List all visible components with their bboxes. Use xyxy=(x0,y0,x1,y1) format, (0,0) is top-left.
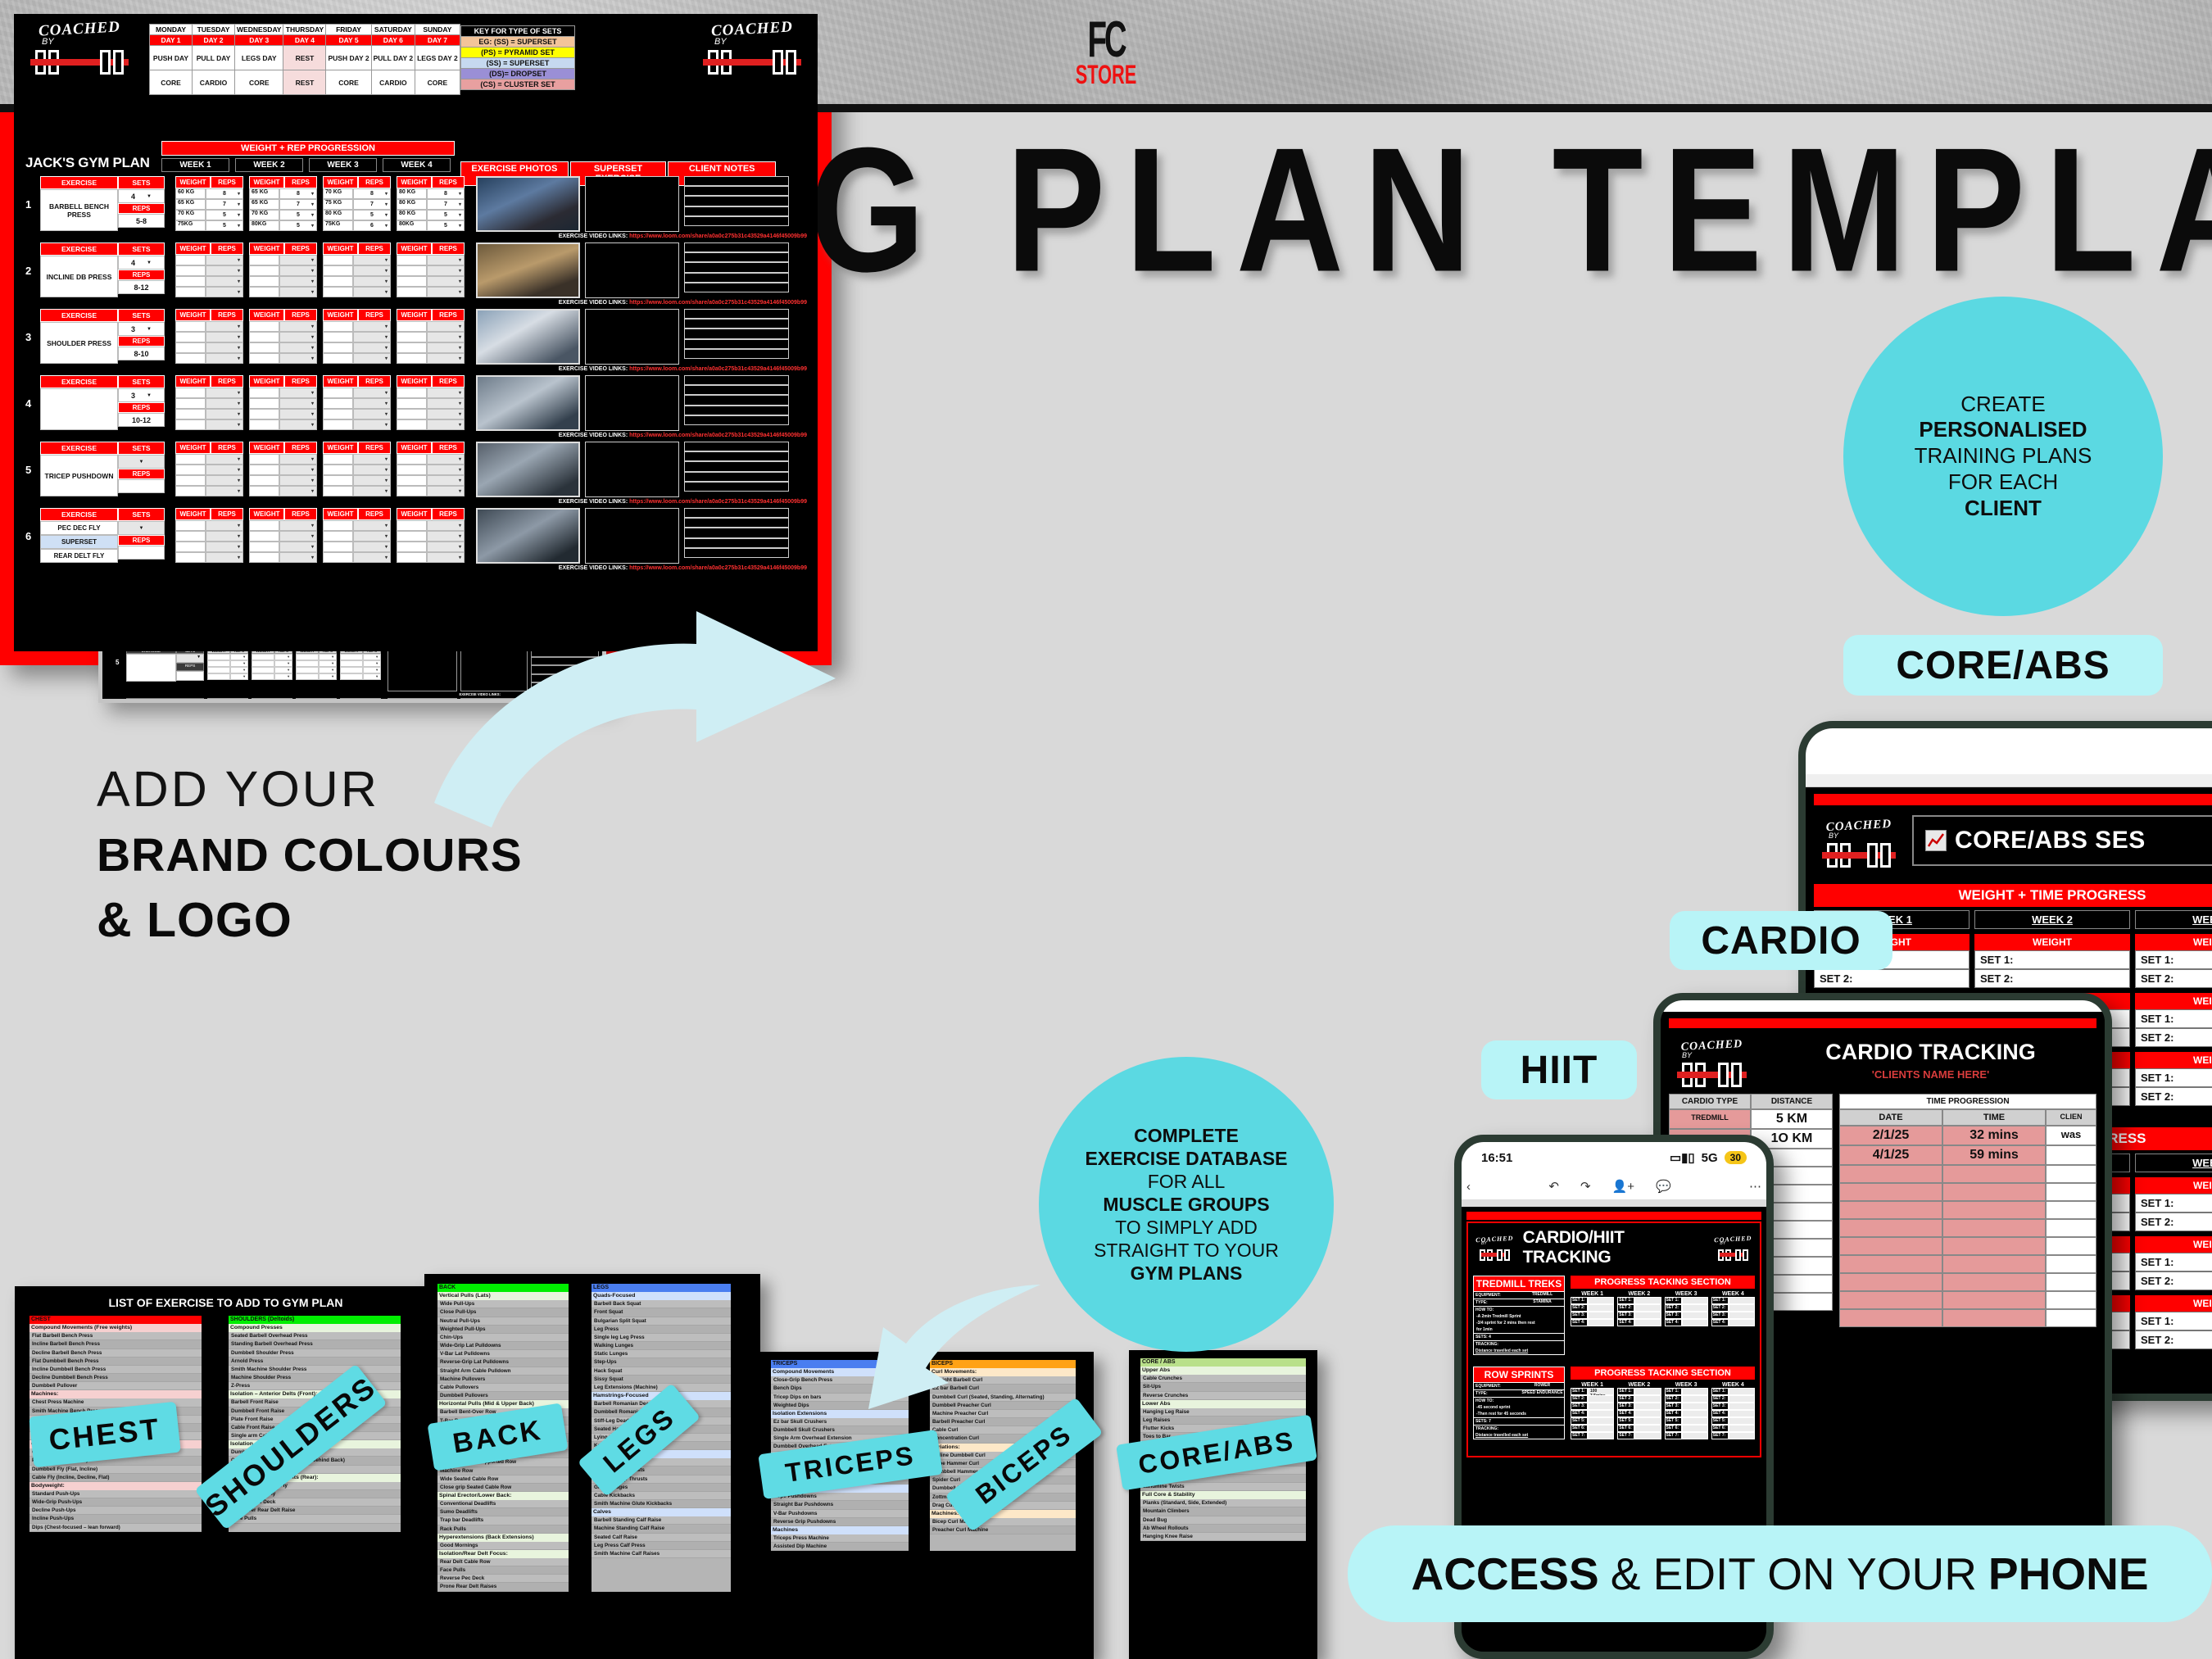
list-item[interactable]: Reverse-Grip Lat Pulldowns xyxy=(437,1358,569,1367)
list-item[interactable]: Incline Push-Ups xyxy=(29,1515,202,1523)
list-item[interactable]: Dumbbell Pullovers xyxy=(437,1392,569,1400)
list-item[interactable]: Bulgarian Split Squat xyxy=(592,1317,731,1326)
exercise-photo[interactable] xyxy=(476,176,580,232)
weight-cell[interactable] xyxy=(249,552,279,563)
weight-cell[interactable]: 70 KG xyxy=(249,210,279,220)
reps-cell[interactable]: 5 xyxy=(206,220,243,231)
weight-cell[interactable] xyxy=(397,542,427,552)
weight-cell[interactable] xyxy=(397,398,427,409)
undo-icon[interactable]: ↶ xyxy=(1548,1179,1559,1194)
reps-cell[interactable] xyxy=(206,342,243,353)
weight-cell[interactable] xyxy=(323,398,353,409)
list-item[interactable]: Wide-Grip Push-Ups xyxy=(29,1498,202,1507)
set-value[interactable] xyxy=(1588,1425,1614,1432)
m-extra-cell[interactable]: REST xyxy=(283,70,326,95)
weight-cell[interactable] xyxy=(249,287,279,297)
reps-cell[interactable] xyxy=(206,353,243,364)
m-days-cell[interactable]: WEDNESDAY xyxy=(235,25,283,35)
reps-cell[interactable]: 5 xyxy=(279,210,317,220)
client-notes-cell[interactable] xyxy=(684,375,789,431)
weight-cell[interactable] xyxy=(175,486,206,496)
weight-cell[interactable] xyxy=(323,353,353,364)
weekly-schedule-table[interactable]: MONDAYTUESDAYWEDNESDAYTHURSDAYFRIDAYSATU… xyxy=(149,24,460,95)
list-item[interactable]: Straight Bar Pushdowns xyxy=(771,1501,909,1509)
reps-cell[interactable]: 5 xyxy=(353,210,391,220)
weight-cell[interactable] xyxy=(249,475,279,486)
reps-cell[interactable] xyxy=(279,454,317,465)
date-cell[interactable]: 4/1/25 xyxy=(1839,1145,1942,1165)
reps-cell[interactable] xyxy=(353,520,391,531)
reps-cell[interactable] xyxy=(353,353,391,364)
list-item[interactable]: Rear Delt Cable Row xyxy=(437,1558,569,1566)
weight-cell[interactable]: 80KG xyxy=(249,220,279,231)
superset-exercise-cell[interactable] xyxy=(585,442,679,497)
reps-cell[interactable] xyxy=(353,542,391,552)
weight-cell[interactable] xyxy=(249,255,279,265)
exercise-photo[interactable] xyxy=(476,309,580,365)
list-item[interactable]: Smith Machine Glute Kickbacks xyxy=(592,1500,731,1508)
exercise-video-link[interactable]: EXERCISE VIDEO LINKS: https://www.loom.c… xyxy=(25,433,812,438)
reps-cell[interactable] xyxy=(427,265,465,276)
reps-cell[interactable] xyxy=(353,454,391,465)
m-sess-cell[interactable]: PULL DAY 2 xyxy=(371,46,415,70)
list-item[interactable]: Close grip Seated Cable Row xyxy=(437,1484,569,1492)
reps-cell[interactable] xyxy=(206,287,243,297)
m-daynums-cell[interactable]: DAY 7 xyxy=(415,35,460,46)
weight-cell[interactable] xyxy=(249,265,279,276)
week-block[interactable]: WEIGHTREPS xyxy=(249,508,317,564)
set-value[interactable] xyxy=(1588,1304,1614,1312)
reps-cell[interactable] xyxy=(427,465,465,475)
list-item[interactable]: V-Bar Pushdowns xyxy=(771,1510,909,1518)
reps-cell[interactable] xyxy=(427,255,465,265)
set-value[interactable] xyxy=(1634,1304,1661,1312)
reps-cell[interactable] xyxy=(279,409,317,419)
weight-cell[interactable] xyxy=(175,419,206,430)
set-row-tablet[interactable]: SET 1: xyxy=(2135,1253,2212,1271)
rep-range-value[interactable]: 10-12 xyxy=(118,413,165,427)
time-progression-table[interactable]: TIME PROGRESSIONDATETIMECLIEN2/1/2532 mi… xyxy=(1839,1094,2096,1327)
reps-cell[interactable] xyxy=(279,465,317,475)
rep-range-value[interactable] xyxy=(118,546,165,560)
reps-cell[interactable]: 5 xyxy=(427,220,465,231)
list-item[interactable]: Reverse Crunches xyxy=(1140,1392,1306,1400)
weight-cell[interactable] xyxy=(323,388,353,398)
weight-cell[interactable]: 75 KG xyxy=(323,199,353,210)
date-cell[interactable]: 2/1/25 xyxy=(1839,1126,1942,1145)
weight-cell[interactable]: 80KG xyxy=(397,220,427,231)
set-value[interactable]: 100 3.5mins xyxy=(1588,1388,1614,1395)
weight-cell[interactable]: 75KG xyxy=(175,220,206,231)
reps-cell[interactable] xyxy=(353,419,391,430)
list-item[interactable]: Dumbbell Pullover xyxy=(29,1382,202,1390)
m-daynums-cell[interactable]: DAY 4 xyxy=(283,35,326,46)
reps-cell[interactable]: 7 xyxy=(427,199,465,210)
weight-cell[interactable]: 70 KG xyxy=(175,210,206,220)
set-value[interactable] xyxy=(1634,1410,1661,1417)
sets-value[interactable]: 4▼ xyxy=(118,189,165,203)
list-item[interactable]: Prone Rear Delt Raises xyxy=(437,1583,569,1591)
list-item[interactable]: Smith Machine Calf Raises xyxy=(592,1550,731,1558)
week-block[interactable]: WEIGHTREPS xyxy=(397,442,465,497)
reps-cell[interactable] xyxy=(427,419,465,430)
client-note-cell[interactable]: was xyxy=(2046,1126,2096,1145)
exercise-board-core-abs[interactable]: CORE / ABSUpper AbsCable CrunchesSit-Ups… xyxy=(1129,1350,1317,1659)
set-value[interactable] xyxy=(1588,1395,1614,1403)
distance-cell[interactable]: 5 KM xyxy=(1751,1109,1833,1129)
weight-cell[interactable] xyxy=(175,475,206,486)
list-item[interactable]: Close Pull-Ups xyxy=(437,1308,569,1317)
list-item[interactable]: Front Squat xyxy=(592,1308,731,1317)
list-item[interactable]: Bicep Curl Machine xyxy=(930,1518,1076,1526)
exercise-photo[interactable] xyxy=(476,442,580,497)
week-block[interactable]: WEIGHTREPS xyxy=(323,243,391,298)
set-value[interactable] xyxy=(1729,1312,1755,1319)
weight-cell[interactable] xyxy=(249,454,279,465)
weight-cell[interactable] xyxy=(175,265,206,276)
redo-icon[interactable]: ↷ xyxy=(1580,1179,1591,1194)
exercise-row[interactable]: 4EXERCISESETS3▼REPS10-12WEIGHTREPSWEIGHT… xyxy=(25,375,812,431)
weight-cell[interactable] xyxy=(323,255,353,265)
set-row-tablet[interactable]: SET 2: xyxy=(1974,969,2130,988)
weight-cell[interactable] xyxy=(323,332,353,342)
set-value[interactable] xyxy=(1588,1417,1614,1425)
reps-cell[interactable]: 8 xyxy=(427,188,465,199)
reps-cell[interactable] xyxy=(206,409,243,419)
exercise-name[interactable]: TRICEP PUSHDOWN xyxy=(40,455,118,496)
list-item[interactable]: Landmine Twists xyxy=(1140,1483,1306,1491)
list-item[interactable]: Wide Seated Cable Row xyxy=(437,1475,569,1484)
exercise-video-link[interactable]: EXERCISE VIDEO LINKS: https://www.loom.c… xyxy=(25,499,812,505)
m-sess-cell[interactable]: PUSH DAY 2 xyxy=(326,46,371,70)
reps-cell[interactable] xyxy=(279,287,317,297)
weight-cell[interactable] xyxy=(323,454,353,465)
weight-cell[interactable] xyxy=(323,276,353,287)
weight-cell[interactable] xyxy=(249,520,279,531)
reps-cell[interactable]: 8 xyxy=(206,188,243,199)
list-item[interactable]: Decline Push-Ups xyxy=(29,1507,202,1515)
week-block[interactable]: WEIGHTREPS xyxy=(175,309,243,365)
time-cell[interactable]: 32 mins xyxy=(1942,1126,2046,1145)
week-block[interactable]: WEIGHTREPS xyxy=(175,442,243,497)
reps-cell[interactable] xyxy=(353,398,391,409)
set-value[interactable] xyxy=(1634,1395,1661,1403)
m-sess-cell[interactable]: PUSH DAY xyxy=(150,46,193,70)
weight-cell[interactable] xyxy=(397,255,427,265)
reps-cell[interactable] xyxy=(353,276,391,287)
set-value[interactable] xyxy=(1682,1304,1708,1312)
reps-cell[interactable] xyxy=(427,287,465,297)
list-item[interactable]: Neutral Pull-Ups xyxy=(437,1317,569,1326)
weight-cell[interactable] xyxy=(175,465,206,475)
reps-cell[interactable]: 7 xyxy=(279,199,317,210)
list-item[interactable]: Hanging Leg Raise xyxy=(1140,1408,1306,1416)
weight-cell[interactable] xyxy=(175,276,206,287)
weight-cell[interactable]: 65 KG xyxy=(249,199,279,210)
set-value[interactable] xyxy=(1588,1432,1614,1439)
reps-cell[interactable]: 6 xyxy=(353,220,391,231)
weight-cell[interactable] xyxy=(249,388,279,398)
week-block[interactable]: WEIGHTREPS xyxy=(249,375,317,431)
weight-cell[interactable] xyxy=(249,486,279,496)
set-value[interactable] xyxy=(1729,1304,1755,1312)
week-block[interactable]: WEIGHTREPS xyxy=(323,442,391,497)
list-item[interactable]: Trap bar Deadlifts xyxy=(437,1516,569,1525)
weight-cell[interactable] xyxy=(175,353,206,364)
week-block[interactable]: WEIGHTREPS70 KG875 KG780 KG575KG6 xyxy=(323,176,391,232)
reps-cell[interactable]: 5 xyxy=(206,210,243,220)
back-icon[interactable]: ‹ xyxy=(1466,1180,1471,1194)
list-item[interactable]: Arnold Press xyxy=(229,1358,401,1366)
list-item[interactable]: Leg Press Calf Press xyxy=(592,1542,731,1550)
exercise-row[interactable]: 3EXERCISESETSSHOULDER PRESS3▼REPS8-10WEI… xyxy=(25,309,812,365)
list-item[interactable]: V-Bar Lat Pulldowns xyxy=(437,1350,569,1358)
week-block[interactable]: WEIGHTREPS xyxy=(249,243,317,298)
m-days-cell[interactable]: MONDAY xyxy=(150,25,193,35)
list-item[interactable]: Sit-Ups xyxy=(1140,1383,1306,1391)
superset-exercise-cell[interactable] xyxy=(585,309,679,365)
set-value[interactable] xyxy=(1682,1388,1708,1395)
list-item[interactable]: Step-Ups xyxy=(592,1358,731,1367)
set-value[interactable] xyxy=(1682,1425,1708,1432)
week-block[interactable]: WEIGHTREPS xyxy=(249,309,317,365)
weight-cell[interactable] xyxy=(175,388,206,398)
list-item[interactable]: Incline Barbell Bench Press xyxy=(29,1340,202,1349)
list-item[interactable]: Preacher Curl Machine xyxy=(930,1526,1076,1534)
list-item[interactable]: Static Lunges xyxy=(592,1350,731,1358)
list-item[interactable]: Dumbbell Shoulder Press xyxy=(229,1349,401,1358)
m-extra-cell[interactable]: CARDIO xyxy=(371,70,415,95)
reps-cell[interactable] xyxy=(206,388,243,398)
list-item[interactable]: Decline Dumbbell Bench Press xyxy=(29,1374,202,1382)
m-extra-cell[interactable]: CORE xyxy=(326,70,371,95)
reps-cell[interactable] xyxy=(427,353,465,364)
reps-cell[interactable]: 8 xyxy=(353,188,391,199)
m-sess-cell[interactable]: PULL DAY xyxy=(193,46,235,70)
m-days-cell[interactable]: THURSDAY xyxy=(283,25,326,35)
reps-cell[interactable] xyxy=(206,520,243,531)
m-extra-cell[interactable]: CORE xyxy=(235,70,283,95)
set-value[interactable] xyxy=(1729,1417,1755,1425)
weight-cell[interactable] xyxy=(175,454,206,465)
weight-cell[interactable] xyxy=(323,486,353,496)
more-options-icon[interactable]: ⋯ xyxy=(1749,1179,1761,1194)
list-item[interactable]: Planks (Standard, Side, Extended) xyxy=(1140,1499,1306,1507)
m-sess-cell[interactable]: REST xyxy=(283,46,326,70)
set-value[interactable] xyxy=(1729,1395,1755,1403)
share-icon[interactable]: 👤+ xyxy=(1612,1179,1634,1194)
reps-cell[interactable] xyxy=(353,552,391,563)
set-value[interactable] xyxy=(1588,1403,1614,1410)
weight-cell[interactable] xyxy=(175,531,206,542)
list-item[interactable]: Machine Row xyxy=(437,1467,569,1475)
reps-cell[interactable] xyxy=(353,388,391,398)
list-item[interactable]: Triceps Press Machine xyxy=(771,1534,909,1543)
set-row-tablet[interactable]: SET 2: xyxy=(2135,969,2212,988)
weight-cell[interactable] xyxy=(397,321,427,332)
weight-cell[interactable] xyxy=(175,520,206,531)
reps-cell[interactable] xyxy=(279,475,317,486)
set-row-tablet[interactable]: SET 1: xyxy=(2135,1068,2212,1087)
reps-cell[interactable] xyxy=(427,398,465,409)
list-item[interactable]: Wide-Grip Lat Pulldowns xyxy=(437,1342,569,1350)
superset-exercise-cell[interactable] xyxy=(585,375,679,431)
week-block[interactable]: WEIGHTREPS80 KG880 KG780 KG580KG5 xyxy=(397,176,465,232)
reps-cell[interactable] xyxy=(353,409,391,419)
exercise-name[interactable]: PEC DEC FLY xyxy=(40,521,118,535)
list-item[interactable]: Decline Barbell Bench Press xyxy=(29,1349,202,1358)
set-value[interactable] xyxy=(1634,1417,1661,1425)
rep-range-value[interactable]: 8-10 xyxy=(118,347,165,360)
reps-cell[interactable]: 7 xyxy=(206,199,243,210)
weight-cell[interactable]: 80 KG xyxy=(397,199,427,210)
reps-cell[interactable] xyxy=(279,321,317,332)
week-block[interactable]: WEIGHTREPS xyxy=(397,243,465,298)
list-item[interactable]: Machine Standing Calf Raise xyxy=(592,1525,731,1533)
set-value[interactable] xyxy=(1682,1312,1708,1319)
weight-cell[interactable] xyxy=(323,265,353,276)
set-value[interactable] xyxy=(1634,1432,1661,1439)
list-item[interactable]: Incline Dumbbell Bench Press xyxy=(29,1366,202,1374)
weight-cell[interactable]: 65 KG xyxy=(175,199,206,210)
reps-cell[interactable]: 5 xyxy=(427,210,465,220)
set-value[interactable] xyxy=(1729,1388,1755,1395)
reps-cell[interactable] xyxy=(279,342,317,353)
reps-cell[interactable] xyxy=(427,454,465,465)
reps-cell[interactable] xyxy=(279,486,317,496)
reps-cell[interactable] xyxy=(353,475,391,486)
weight-cell[interactable] xyxy=(249,398,279,409)
list-item[interactable]: Hack Squat xyxy=(592,1367,731,1376)
reps-cell[interactable] xyxy=(353,531,391,542)
weight-cell[interactable] xyxy=(397,332,427,342)
reps-cell[interactable] xyxy=(353,265,391,276)
week-block[interactable]: WEIGHTREPS xyxy=(323,309,391,365)
reps-cell[interactable] xyxy=(279,255,317,265)
set-value[interactable] xyxy=(1634,1297,1661,1304)
reps-cell[interactable] xyxy=(427,342,465,353)
reps-cell[interactable] xyxy=(206,419,243,430)
reps-cell[interactable]: 5 xyxy=(279,220,317,231)
weight-cell[interactable] xyxy=(323,321,353,332)
m-daynums-cell[interactable]: DAY 5 xyxy=(326,35,371,46)
sets-value[interactable]: 3▼ xyxy=(118,388,165,402)
exercise-row[interactable]: 2EXERCISESETSINCLINE DB PRESS4▼REPS8-12W… xyxy=(25,243,812,298)
weight-cell[interactable] xyxy=(249,465,279,475)
list-item[interactable]: Straight Arm Cable Pulldown xyxy=(437,1367,569,1376)
sets-value[interactable]: ▼ xyxy=(118,521,165,535)
set-value[interactable] xyxy=(1729,1319,1755,1326)
reps-cell[interactable] xyxy=(279,265,317,276)
weight-cell[interactable] xyxy=(397,486,427,496)
list-item[interactable]: Barbell Standing Calf Raise xyxy=(592,1516,731,1525)
reps-cell[interactable] xyxy=(206,454,243,465)
list-item[interactable]: Cable Crunches xyxy=(1140,1375,1306,1383)
reps-cell[interactable] xyxy=(279,353,317,364)
weight-cell[interactable]: 70 KG xyxy=(323,188,353,199)
week-block[interactable]: WEIGHTREPS xyxy=(249,442,317,497)
weight-cell[interactable]: 80 KG xyxy=(397,188,427,199)
set-value[interactable] xyxy=(1634,1425,1661,1432)
reps-cell[interactable] xyxy=(206,276,243,287)
weight-cell[interactable] xyxy=(175,321,206,332)
phone-toolbar[interactable]: ‹ ↶ ↷ 👤+ 💬 ⋯ xyxy=(1462,1173,1766,1199)
list-item[interactable]: Wide Pull-Ups xyxy=(437,1300,569,1308)
reps-cell[interactable] xyxy=(427,332,465,342)
list-item[interactable]: Barbell Back Squat xyxy=(592,1300,731,1308)
reps-cell[interactable] xyxy=(353,287,391,297)
time-cell[interactable]: 59 mins xyxy=(1942,1145,2046,1165)
weight-cell[interactable] xyxy=(323,465,353,475)
rep-range-value[interactable] xyxy=(118,479,165,493)
weight-cell[interactable] xyxy=(249,419,279,430)
weight-cell[interactable] xyxy=(397,419,427,430)
weight-cell[interactable] xyxy=(249,276,279,287)
m-daynums-cell[interactable]: DAY 3 xyxy=(235,35,283,46)
week-block[interactable]: WEIGHTREPS xyxy=(175,508,243,564)
list-item[interactable]: Reverse Grip Pushdowns xyxy=(771,1518,909,1526)
list-item[interactable]: Sissy Squat xyxy=(592,1376,731,1384)
cardio-type-cell[interactable]: TREDMILL xyxy=(1669,1109,1751,1129)
superset-exercise-cell[interactable] xyxy=(585,176,679,232)
list-item[interactable]: Machine Shoulder Press xyxy=(229,1374,401,1382)
weight-cell[interactable] xyxy=(249,531,279,542)
reps-cell[interactable]: 8 xyxy=(279,188,317,199)
weight-cell[interactable] xyxy=(323,552,353,563)
reps-cell[interactable] xyxy=(206,398,243,409)
list-item[interactable]: Cable Pullovers xyxy=(437,1384,569,1392)
set-row-tablet[interactable]: SET 2: xyxy=(1814,969,1969,988)
week-block[interactable]: WEIGHTREPS60 KG865 KG770 KG575KG5 xyxy=(175,176,243,232)
exercise-name[interactable] xyxy=(40,388,118,430)
set-value[interactable] xyxy=(1729,1410,1755,1417)
reps-cell[interactable] xyxy=(353,255,391,265)
superset-label[interactable]: SUPERSET xyxy=(40,535,118,549)
weight-cell[interactable] xyxy=(323,419,353,430)
weight-cell[interactable] xyxy=(397,475,427,486)
set-row-tablet[interactable]: SET 2: xyxy=(2135,1330,2212,1349)
exercise-row[interactable]: 5EXERCISESETSTRICEP PUSHDOWN▼REPSWEIGHTR… xyxy=(25,442,812,497)
weight-cell[interactable]: 80 KG xyxy=(323,210,353,220)
m-daynums-cell[interactable]: DAY 2 xyxy=(193,35,235,46)
weight-cell[interactable] xyxy=(323,475,353,486)
list-item[interactable]: Reverse Pec Deck xyxy=(437,1575,569,1583)
reps-cell[interactable] xyxy=(279,398,317,409)
set-row-tablet[interactable]: SET 1: xyxy=(2135,1194,2212,1213)
weight-cell[interactable] xyxy=(249,409,279,419)
weight-cell[interactable] xyxy=(323,287,353,297)
m-sess-cell[interactable]: LEGS DAY 2 xyxy=(415,46,460,70)
list-item[interactable]: Face Pulls xyxy=(229,1515,401,1523)
list-item[interactable]: Dumbbell Fly (Flat, Incline) xyxy=(29,1466,202,1474)
reps-cell[interactable] xyxy=(279,419,317,430)
reps-cell[interactable] xyxy=(427,475,465,486)
weight-cell[interactable]: 65 KG xyxy=(249,188,279,199)
reps-cell[interactable] xyxy=(279,531,317,542)
exercise-name-2[interactable]: REAR DELT FLY xyxy=(40,549,118,563)
exercise-video-link[interactable]: EXERCISE VIDEO LINKS: https://www.loom.c… xyxy=(25,300,812,306)
weight-cell[interactable] xyxy=(323,520,353,531)
weight-cell[interactable] xyxy=(397,265,427,276)
reps-cell[interactable] xyxy=(206,552,243,563)
week-block[interactable]: WEIGHTREPS xyxy=(397,375,465,431)
list-item[interactable]: Good Mornings xyxy=(437,1542,569,1550)
reps-cell[interactable] xyxy=(206,486,243,496)
list-item[interactable]: Seated Calf Raise xyxy=(592,1534,731,1542)
weight-cell[interactable] xyxy=(397,454,427,465)
exercise-video-link[interactable]: EXERCISE VIDEO LINKS: https://www.loom.c… xyxy=(25,233,812,239)
set-value[interactable] xyxy=(1634,1403,1661,1410)
